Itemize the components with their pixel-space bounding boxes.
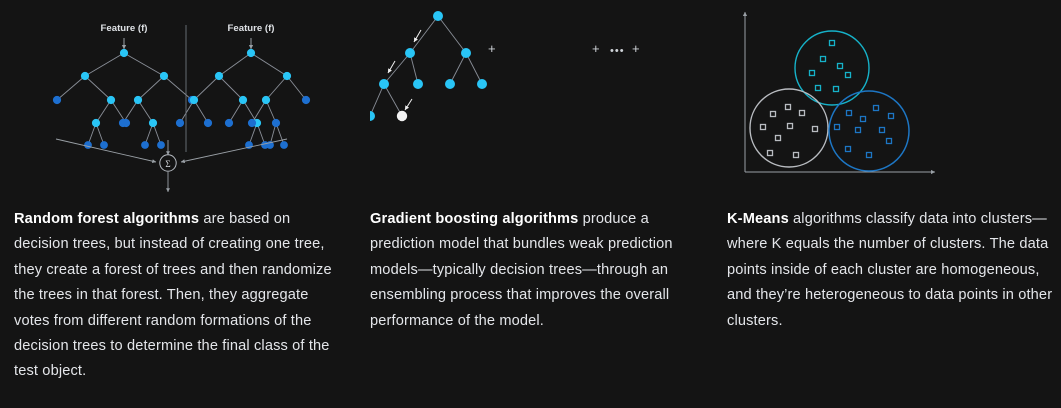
tree-a-internal-nodes: [81, 49, 168, 127]
gradient-boosting-figure: + + ••• +: [370, 0, 719, 205]
gb-tree-1-highlight-node: [397, 111, 407, 121]
column-k-means: K-Means algorithms classify data into cl…: [719, 0, 1061, 408]
cluster-left-gray: [750, 89, 828, 167]
caption-k-means: K-Means algorithms classify data into cl…: [727, 207, 1057, 334]
gb-tree-1-nodes: [370, 11, 487, 121]
caption-lead-gradient-boosting: Gradient boosting algorithms: [370, 211, 578, 227]
caption-body-random-forest: are based on decision trees, but instead…: [14, 211, 332, 379]
plus-separator-1: +: [488, 42, 496, 55]
feature-label-b: Feature (f): [228, 23, 275, 34]
gb-tree-1-residual-arrows: [388, 30, 421, 110]
infographic-page: Σ Feature (f) Feature (f) Random forest …: [0, 0, 1061, 408]
caption-random-forest: Random forest algorithms are based on de…: [14, 207, 336, 385]
cluster-top-cyan-points: [810, 41, 851, 92]
feature-label-a: Feature (f): [101, 23, 148, 34]
caption-body-gradient-boosting: produce a prediction model that bundles …: [370, 211, 673, 329]
cluster-right-blue: [829, 91, 909, 171]
tree-a: [53, 38, 196, 149]
tree-a-edges: [57, 53, 192, 145]
plus-separator-3: +: [632, 42, 640, 55]
sum-node-symbol: Σ: [165, 159, 170, 169]
columns-container: Σ Feature (f) Feature (f) Random forest …: [0, 0, 1061, 408]
column-gradient-boosting: + + ••• + Gradient boosting algorithms p…: [364, 0, 719, 408]
tree-a-leaf-nodes: [53, 96, 196, 149]
cluster-right-blue-points: [835, 106, 894, 158]
k-means-figure: [727, 0, 1061, 205]
gb-tree-1-edges: [370, 16, 482, 116]
caption-gradient-boosting: Gradient boosting algorithms produce a p…: [370, 207, 704, 334]
caption-body-k-means: algorithms classify data into clusters—w…: [727, 211, 1052, 329]
gb-tree-1: [370, 11, 487, 121]
cluster-top-cyan: [795, 31, 869, 105]
cluster-left-gray-points: [761, 105, 818, 158]
caption-lead-random-forest: Random forest algorithms: [14, 211, 199, 227]
random-forest-figure: Σ Feature (f) Feature (f): [14, 0, 364, 205]
column-random-forest: Σ Feature (f) Feature (f) Random forest …: [0, 0, 364, 408]
tree-b: [176, 38, 310, 149]
plus-separator-2: +: [592, 42, 600, 55]
ellipsis-separator: •••: [610, 46, 625, 57]
caption-lead-k-means: K-Means: [727, 211, 789, 227]
